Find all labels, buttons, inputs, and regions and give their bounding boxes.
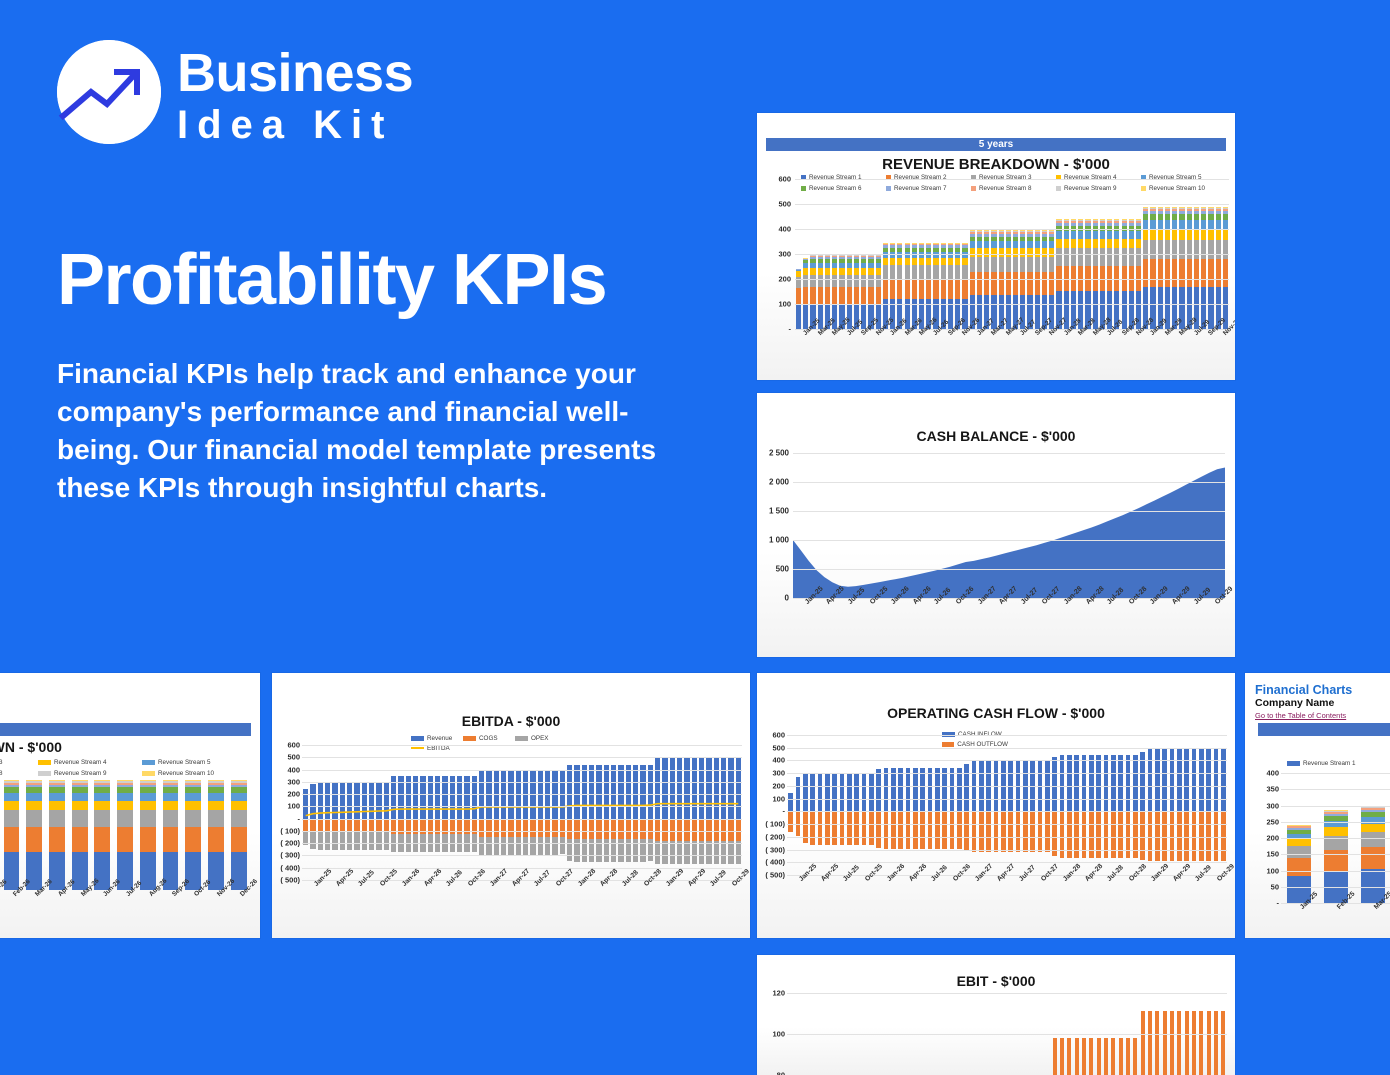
bar — [1082, 1038, 1086, 1075]
bar-segment — [1287, 828, 1311, 830]
bar-segment — [883, 245, 888, 247]
bar-segment — [1208, 220, 1213, 229]
bar-segment — [4, 783, 20, 785]
bar-segment — [912, 243, 917, 244]
bar-column — [803, 735, 808, 875]
y-axis-tick: 120 — [772, 989, 785, 998]
bar-segment — [883, 279, 888, 299]
bar-column — [906, 735, 911, 875]
bar-segment — [890, 243, 895, 244]
bar-segment — [231, 780, 247, 781]
bar-segment — [26, 780, 42, 781]
bar-segment — [832, 257, 837, 259]
bar-segment — [208, 810, 224, 827]
bar-segment — [825, 811, 830, 844]
bar-segment — [796, 304, 801, 329]
bar-segment — [1150, 240, 1155, 260]
bar-segment — [1136, 221, 1141, 223]
bar-segment — [1114, 219, 1119, 220]
bar-segment — [1060, 811, 1065, 858]
bar-segment — [1122, 219, 1127, 220]
bar-segment — [185, 801, 201, 811]
bar-segment — [1082, 755, 1087, 811]
bar-segment — [72, 785, 88, 788]
bar-column — [1082, 735, 1087, 875]
bar-segment — [810, 256, 815, 258]
bar-segment — [94, 783, 110, 785]
bar-column — [4, 775, 20, 890]
bar-segment — [883, 265, 888, 279]
bar-segment — [796, 270, 801, 271]
bar-segment — [1027, 272, 1032, 295]
bar-segment — [1223, 259, 1228, 287]
panel-revenue-breakdown-24-months[interactable]: 24 months REAKDOWN - $'000 Revenue Strea… — [0, 673, 260, 938]
bar-segment — [1187, 208, 1192, 210]
y-axis-tick: 100 — [1266, 866, 1279, 875]
bar-segment — [1100, 239, 1105, 249]
bar-segment — [1170, 749, 1175, 812]
bar-segment — [955, 243, 960, 244]
bar-segment — [1071, 248, 1076, 266]
bar-segment — [825, 275, 830, 287]
bar-segment — [955, 248, 960, 252]
bar-segment — [868, 259, 873, 263]
bar-segment — [140, 801, 156, 811]
bar-segment — [1035, 230, 1040, 231]
bar-segment — [1093, 231, 1098, 239]
bar-segment — [1020, 234, 1025, 237]
bar-segment — [1052, 757, 1057, 811]
bar-segment — [803, 774, 808, 812]
brand-name-line2: Idea Kit — [177, 102, 413, 148]
bar-segment — [163, 801, 179, 811]
bar-segment — [861, 259, 866, 263]
bar-segment — [1223, 229, 1228, 240]
bar-segment — [117, 810, 133, 827]
bar-segment — [1150, 211, 1155, 214]
bar-segment — [1035, 241, 1040, 248]
bar-segment — [1129, 239, 1134, 249]
bar-segment — [185, 783, 201, 785]
bar-column — [847, 735, 852, 875]
bar-segment — [1216, 211, 1221, 214]
gridline — [1281, 871, 1390, 872]
bar-column — [825, 735, 830, 875]
gridline — [1281, 773, 1390, 774]
bar-segment — [1187, 259, 1192, 287]
bar-segment — [977, 272, 982, 295]
bar-segment — [876, 257, 881, 259]
bar-segment — [1216, 209, 1221, 211]
bar-segment — [868, 256, 873, 258]
bar-segment — [163, 785, 179, 788]
bar — [1214, 1011, 1218, 1075]
bar-segment — [933, 279, 938, 299]
y-axis-tick: 200 — [1266, 834, 1279, 843]
bar-segment — [1096, 755, 1101, 811]
bar-segment — [905, 244, 910, 246]
bar-segment — [1122, 239, 1127, 249]
bar-segment — [1006, 257, 1011, 273]
bar-segment — [1064, 223, 1069, 226]
bar-segment — [957, 811, 962, 848]
bar-segment — [962, 243, 967, 244]
bar-segment — [1006, 230, 1011, 231]
bar-segment — [941, 265, 946, 279]
bar-segment — [897, 258, 902, 266]
bar-segment — [163, 780, 179, 781]
bar-segment — [984, 230, 989, 231]
bar-segment — [1172, 220, 1177, 229]
bar-column — [928, 735, 933, 875]
bar-segment — [919, 248, 924, 252]
bar-segment — [868, 287, 873, 305]
bar-segment — [832, 275, 837, 287]
bar-segment — [1027, 230, 1032, 231]
bar-segment — [1201, 207, 1206, 208]
bar-segment — [869, 773, 874, 811]
bar-segment — [140, 783, 156, 785]
bar-segment — [208, 801, 224, 811]
bar — [1148, 1011, 1152, 1075]
bar-segment — [185, 827, 201, 852]
bar-segment — [1136, 220, 1141, 221]
bar-segment — [919, 243, 924, 244]
financial-charts-subtitle: Company Name — [1255, 697, 1334, 709]
table-of-contents-link[interactable]: Go to the Table of Contents — [1255, 711, 1346, 720]
bar-segment — [1035, 272, 1040, 295]
bar-segment — [231, 793, 247, 801]
bar — [1104, 1038, 1108, 1075]
bar-column — [818, 735, 823, 875]
bar-segment — [1006, 232, 1011, 234]
bar-segment — [1324, 850, 1348, 871]
bar-segment — [920, 811, 925, 848]
bar-segment — [1143, 211, 1148, 214]
bar-segment — [897, 248, 902, 252]
bar-segment — [862, 811, 867, 844]
bar-segment — [1042, 231, 1047, 232]
bar-segment — [1136, 248, 1141, 266]
bar-segment — [1150, 208, 1155, 210]
bar-segment — [825, 259, 830, 263]
bar-column — [1184, 735, 1189, 875]
bar-segment — [72, 827, 88, 852]
panel-ebit[interactable]: EBIT - $'000 12010080 — [757, 955, 1235, 1075]
plot-revenue-breakdown-24m — [0, 775, 250, 890]
bar-column — [1192, 735, 1197, 875]
bar-segment — [1071, 231, 1076, 239]
bar-segment — [1129, 223, 1134, 226]
bar-segment — [926, 279, 931, 299]
bar-segment — [926, 245, 931, 247]
bar-segment — [890, 265, 895, 279]
bar-segment — [1013, 234, 1018, 237]
y-axis-tick: ( 200) — [280, 839, 300, 848]
panel-financial-charts[interactable]: Financial Charts Company Name Go to the … — [1245, 673, 1390, 938]
bar-segment — [991, 272, 996, 295]
bar-segment — [1150, 259, 1155, 287]
bar-segment — [854, 811, 859, 844]
bar-segment — [962, 265, 967, 279]
bar-segment — [1093, 239, 1098, 249]
bar-segment — [825, 268, 830, 275]
gridline — [302, 868, 742, 869]
bar-column — [869, 735, 874, 875]
bar-segment — [1111, 755, 1116, 811]
bar-segment — [928, 811, 933, 848]
bar-segment — [890, 244, 895, 246]
bar-segment — [994, 811, 999, 852]
y-axis-tick: 50 — [1271, 882, 1279, 891]
bar-segment — [905, 243, 910, 244]
bar-segment — [1006, 241, 1011, 248]
bar-segment — [970, 232, 975, 234]
bar-segment — [231, 781, 247, 782]
bar-segment — [970, 248, 975, 257]
bar-segment — [818, 275, 823, 287]
y-axis-tick: 2 500 — [769, 449, 789, 458]
gridline — [302, 831, 742, 832]
bar-segment — [163, 810, 179, 827]
bar-segment — [977, 248, 982, 257]
bar-segment — [839, 263, 844, 269]
bar-segment — [905, 245, 910, 247]
bar-segment — [1165, 211, 1170, 214]
bar-segment — [972, 811, 977, 852]
bar-segment — [897, 279, 902, 299]
bar-segment — [1172, 240, 1177, 260]
brand-name-line1: Business — [177, 46, 413, 100]
bar-segment — [890, 245, 895, 247]
y-axis-tick: - — [789, 325, 792, 334]
legend-label: OPEX — [531, 735, 549, 742]
bar-segment — [1023, 811, 1028, 852]
bar-segment — [1136, 239, 1141, 249]
bar-segment — [1067, 811, 1072, 858]
bar-segment — [919, 245, 924, 247]
bar-segment — [26, 783, 42, 785]
bar-segment — [977, 234, 982, 237]
bar-segment — [1208, 208, 1213, 210]
panel-revenue-breakdown-5-years[interactable]: 5 years REVENUE BREAKDOWN - $'000 Revenu… — [757, 113, 1235, 380]
bar-segment — [72, 787, 88, 792]
bar-column — [208, 775, 224, 890]
bar-segment — [1049, 230, 1054, 231]
bar-segment — [1042, 232, 1047, 234]
bar-segment — [876, 769, 881, 811]
bar-segment — [1114, 266, 1119, 291]
y-axis-tick: 300 — [772, 769, 785, 778]
bar-segment — [26, 827, 42, 852]
y-axis-tick: ( 400) — [765, 858, 785, 867]
bar-segment — [1208, 211, 1213, 214]
bar-segment — [803, 287, 808, 305]
bar-segment — [4, 785, 20, 788]
bar-segment — [1179, 240, 1184, 260]
bar-segment — [49, 810, 65, 827]
bar-segment — [1187, 207, 1192, 208]
bar-segment — [1013, 232, 1018, 234]
bar-segment — [1114, 248, 1119, 266]
bar-segment — [810, 268, 815, 275]
bar-segment — [1107, 221, 1112, 223]
bar-segment — [950, 811, 955, 848]
gridline — [302, 819, 742, 820]
bar-segment — [94, 801, 110, 811]
bar-segment — [231, 827, 247, 852]
bar-segment — [94, 780, 110, 781]
y-axis-tick: 1 500 — [769, 507, 789, 516]
bar-segment — [4, 793, 20, 801]
bar-segment — [1187, 229, 1192, 240]
bar-segment — [810, 259, 815, 263]
bar-segment — [933, 258, 938, 266]
panel-ebitda[interactable]: EBITDA - $'000 RevenueCOGSOPEXEBITDA 600… — [272, 673, 750, 938]
gridline — [795, 254, 1229, 255]
bar-segment — [1172, 211, 1177, 214]
bar-segment — [163, 827, 179, 852]
bar-segment — [1194, 229, 1199, 240]
panel-operating-cash-flow[interactable]: OPERATING CASH FLOW - $'000 CASH INFLOWC… — [757, 673, 1235, 938]
bar-segment — [883, 248, 888, 252]
bar-segment — [1035, 232, 1040, 234]
bar-segment — [868, 275, 873, 287]
gridline — [787, 735, 1227, 736]
bar-segment — [1056, 219, 1061, 220]
bar-segment — [1287, 858, 1311, 876]
y-axis-tick: 200 — [772, 781, 785, 790]
bar-segment — [1056, 239, 1061, 249]
bar-segment — [926, 244, 931, 246]
bar-segment — [1158, 209, 1163, 211]
bar-segment — [810, 263, 815, 269]
bar-segment — [803, 259, 808, 260]
bar-segment — [49, 780, 65, 781]
bar-segment — [984, 234, 989, 237]
slide-root: Business Idea Kit Profitability KPIs Fin… — [0, 0, 1390, 1043]
bar-segment — [1216, 240, 1221, 260]
bar-segment — [847, 257, 852, 259]
bar-column — [1001, 735, 1006, 875]
bar-segment — [1027, 257, 1032, 273]
bar-segment — [933, 245, 938, 247]
bar-column — [1170, 735, 1175, 875]
bar-segment — [950, 768, 955, 812]
bar-segment — [810, 257, 815, 259]
gridline — [793, 482, 1225, 483]
bar-segment — [1114, 231, 1119, 239]
bar-segment — [818, 268, 823, 275]
bar-segment — [803, 260, 808, 263]
bar-segment — [810, 773, 815, 811]
bar-segment — [1208, 240, 1213, 260]
bar-column — [840, 735, 845, 875]
bar-segment — [933, 265, 938, 279]
y-axis-tick: 80 — [777, 1071, 785, 1075]
bar-segment — [977, 237, 982, 242]
bar-segment — [1071, 266, 1076, 291]
bar-segment — [1085, 221, 1090, 223]
bar-segment — [847, 275, 852, 287]
bar-segment — [1093, 220, 1098, 221]
bar-segment — [140, 780, 156, 781]
bar-segment — [1107, 266, 1112, 291]
bar-segment — [1118, 811, 1123, 858]
plot-ebitda — [302, 745, 742, 880]
bar-segment — [1201, 229, 1206, 240]
bar-column — [810, 735, 815, 875]
bar-segment — [1013, 272, 1018, 295]
bar-segment — [832, 256, 837, 258]
bar-segment — [941, 279, 946, 299]
bar-column — [950, 735, 955, 875]
bar-column — [185, 775, 201, 890]
bar-column — [231, 775, 247, 890]
bar-segment — [1223, 220, 1228, 229]
y-axis-tick: 600 — [778, 175, 791, 184]
bar-segment — [1104, 755, 1109, 811]
bar-segment — [1122, 266, 1127, 291]
bar-column — [49, 775, 65, 890]
bar-segment — [1027, 248, 1032, 257]
bar-segment — [1172, 207, 1177, 208]
panel-cash-balance[interactable]: CASH BALANCE - $'000 2 5002 0001 5001 00… — [757, 393, 1235, 657]
bar-column — [117, 775, 133, 890]
bar-segment — [1129, 219, 1134, 220]
legend-item: Revenue Stream 4 — [38, 757, 142, 768]
bar-segment — [854, 268, 859, 275]
gridline — [795, 204, 1229, 205]
gridline — [1281, 789, 1390, 790]
bar-segment — [868, 263, 873, 269]
bar-segment — [1049, 237, 1054, 242]
bar-segment — [1114, 221, 1119, 223]
bar-segment — [1042, 230, 1047, 231]
bar-segment — [839, 287, 844, 305]
gridline — [795, 304, 1229, 305]
bar-segment — [1136, 219, 1141, 220]
bar-segment — [970, 234, 975, 237]
bar-segment — [818, 257, 823, 259]
bar-segment — [984, 248, 989, 257]
bar-segment — [1045, 811, 1050, 852]
bar-segment — [825, 257, 830, 259]
bar-segment — [913, 768, 918, 812]
chart-title-cash-balance: CASH BALANCE - $'000 — [757, 428, 1235, 444]
bar-column — [979, 735, 984, 875]
bar-segment — [1361, 824, 1385, 833]
bar-segment — [1158, 229, 1163, 240]
bar-segment — [49, 781, 65, 782]
bar-segment — [208, 827, 224, 852]
bar-segment — [4, 801, 20, 811]
bar — [1067, 1038, 1071, 1075]
y-axis-tick: 200 — [287, 790, 300, 799]
bar-segment — [1122, 231, 1127, 239]
bar-segment — [4, 827, 20, 852]
bar-column — [1008, 735, 1013, 875]
bar-segment — [1067, 755, 1072, 811]
bar-segment — [49, 787, 65, 792]
legend-label: Revenue — [427, 735, 452, 742]
bar-segment — [1201, 214, 1206, 220]
bar-segment — [926, 243, 931, 244]
y-axis-tick: ( 400) — [280, 863, 300, 872]
bar-segment — [1006, 248, 1011, 257]
bar-segment — [984, 231, 989, 232]
bar-segment — [999, 231, 1004, 232]
